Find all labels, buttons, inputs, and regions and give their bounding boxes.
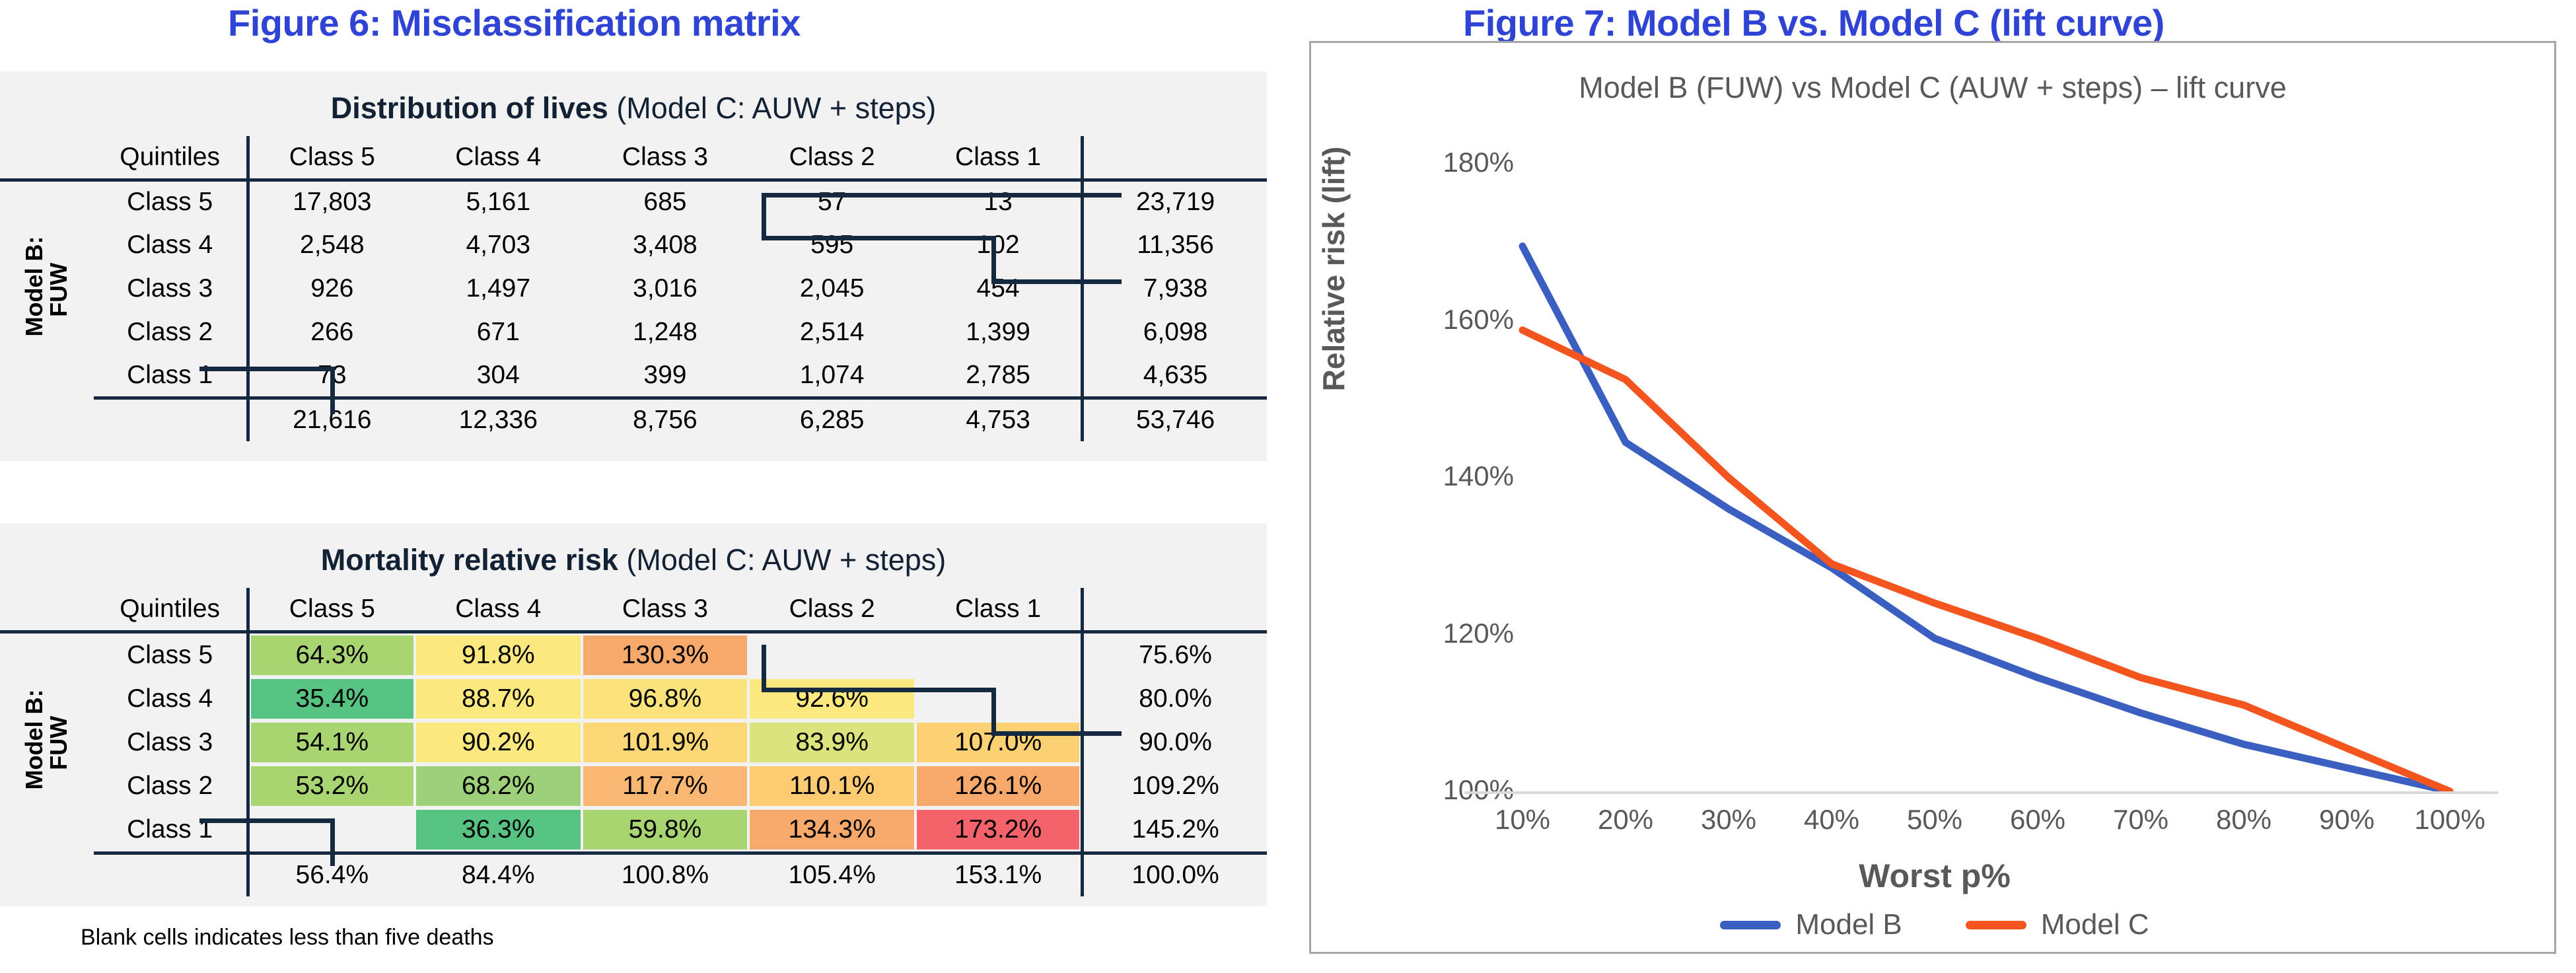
row-total: 80.0% [1083,677,1267,721]
corner-cell [0,136,94,180]
table-b-heading: Mortality relative risk (Model C: AUW + … [0,523,1267,577]
row-label: Class 5 [94,180,248,223]
matrix-cell: 2,514 [748,310,915,354]
heat-swatch [917,679,1079,719]
x-tick-label: 70% [2081,804,2200,836]
matrix-cell: 1,074 [748,354,915,398]
column-header: Quintiles [94,136,248,180]
heat-swatch: 117.7% [583,766,748,806]
distribution-of-lives-block: Distribution of lives (Model C: AUW + st… [0,71,1267,461]
column-total: 8,756 [582,398,749,441]
distribution-of-lives-table: QuintilesClass 5Class 4Class 3Class 2Cla… [0,136,1267,441]
legend-label: Model B [1795,908,1902,941]
grand-total: 53,746 [1083,398,1267,441]
stair-seg [991,279,1122,284]
column-header: Class 4 [415,588,582,631]
column-header: Class 5 [248,136,415,180]
x-tick-label: 10% [1463,804,1582,836]
table-row: Class 1733043991,0742,7854,635 [0,354,1267,398]
column-header [1083,136,1267,180]
matrix-cell: 173.2% [915,808,1083,853]
matrix-cell: 117.7% [582,764,749,808]
totals-corner [0,398,94,441]
heat-swatch: 54.1% [251,723,413,762]
column-header: Class 2 [748,136,915,180]
heat-swatch: 96.8% [583,679,748,719]
matrix-cell: 17,803 [248,180,415,223]
heat-swatch: 90.2% [416,723,581,762]
stair-seg [762,688,996,692]
stair-seg [762,193,1122,198]
matrix-cell: 54.1% [248,721,415,764]
stair-seg [199,818,335,823]
stair-seg [991,731,1122,736]
matrix-cell: 130.3% [582,631,749,677]
table-row: Model B:FUWClass 564.3%91.8%130.3%75.6% [0,631,1267,677]
matrix-cell: 102 [915,223,1083,267]
lift-curve-chart: Model B (FUW) vs Model C (AUW + steps) –… [1309,41,2556,954]
matrix-cell: 53.2% [248,764,415,808]
row-total: 145.2% [1083,808,1267,853]
table-totals-row: 21,61612,3368,7566,2854,75353,746 [0,398,1267,441]
matrix-cell: 68.2% [415,764,582,808]
heat-swatch: 64.3% [251,635,413,675]
column-header: Class 4 [415,136,582,180]
heat-swatch [750,635,914,675]
matrix-cell: 399 [582,354,749,398]
row-label: Class 1 [94,354,248,398]
matrix-cell: 5,161 [415,180,582,223]
matrix-cell: 134.3% [748,808,915,853]
row-total: 6,098 [1083,310,1267,354]
heat-swatch: 92.6% [750,679,914,719]
x-tick-label: 30% [1669,804,1788,836]
matrix-cell: 304 [415,354,582,398]
column-header: Class 1 [915,136,1083,180]
legend-color-swatch [1720,921,1781,929]
row-total: 90.0% [1083,721,1267,764]
blank-cells-footnote: Blank cells indicates less than five dea… [81,925,494,951]
x-tick-label: 40% [1772,804,1891,836]
matrix-cell: 126.1% [915,764,1083,808]
matrix-cell: 110.1% [748,764,915,808]
table-b-heading-rest: (Model C: AUW + steps) [618,543,946,577]
table-row: Class 354.1%90.2%101.9%83.9%107.0%90.0% [0,721,1267,764]
totals-label [94,853,248,896]
matrix-cell: 101.9% [582,721,749,764]
table-b-heading-bold: Mortality relative risk [321,543,618,577]
column-header: Class 2 [748,588,915,631]
x-tick-label: 50% [1875,804,1994,836]
row-label: Class 2 [94,310,248,354]
matrix-cell: 35.4% [248,677,415,721]
baseline-gridline [1464,791,2498,794]
corner-cell [0,588,94,631]
column-header: Quintiles [94,588,248,631]
column-header: Class 5 [248,588,415,631]
x-tick-label: 60% [1978,804,2097,836]
figure7-title: Figure 7: Model B vs. Model C (lift curv… [1463,1,2165,44]
column-header: Class 1 [915,588,1083,631]
x-tick-label: 20% [1566,804,1685,836]
row-axis-label: Model B:FUW [0,631,94,853]
heat-swatch: 36.3% [416,810,581,849]
x-tick-label: 100% [2390,804,2509,836]
column-header [1083,588,1267,631]
matrix-cell: 107.0% [915,721,1083,764]
stair-seg [762,193,766,240]
matrix-cell: 1,399 [915,310,1083,354]
heat-swatch [917,635,1079,675]
column-total: 84.4% [415,853,582,896]
heat-swatch: 53.2% [251,766,413,806]
plot-area [1464,164,2495,791]
column-total: 4,753 [915,398,1083,441]
mortality-relative-risk-table: QuintilesClass 5Class 4Class 3Class 2Cla… [0,588,1267,896]
row-total: 109.2% [1083,764,1267,808]
row-axis-label: Model B:FUW [0,180,94,398]
x-tick-label: 80% [2184,804,2303,836]
matrix-cell: 59.8% [582,808,749,853]
figure6-title: Figure 6: Misclassification matrix [228,1,801,44]
column-total: 6,285 [748,398,915,441]
matrix-cell: 91.8% [415,631,582,677]
matrix-cell: 671 [415,310,582,354]
heat-swatch: 88.7% [416,679,581,719]
column-header: Class 3 [582,136,749,180]
matrix-cell: 64.3% [248,631,415,677]
table-a-heading-rest: (Model C: AUW + steps) [608,91,936,125]
figure-page: Figure 6: Misclassification matrix Distr… [0,0,2576,973]
stair-seg [330,818,335,866]
row-total: 4,635 [1083,354,1267,398]
matrix-cell: 266 [248,310,415,354]
heat-swatch: 126.1% [917,766,1079,806]
stair-seg [991,236,996,284]
column-total: 12,336 [415,398,582,441]
stair-seg [762,236,996,240]
legend-item[interactable]: Model C [1966,908,2149,941]
matrix-cell: 1,248 [582,310,749,354]
table-row: Class 22666711,2482,5141,3996,098 [0,310,1267,354]
left-panel: Figure 6: Misclassification matrix Distr… [0,0,1288,973]
series-line-model-c [1522,330,2450,791]
totals-label [94,398,248,441]
heat-swatch: 101.9% [583,723,748,762]
column-header: Class 3 [582,588,749,631]
row-axis-label-text: Model B:FUW [22,243,71,337]
table-header-row: QuintilesClass 5Class 4Class 3Class 2Cla… [0,136,1267,180]
row-total: 11,356 [1083,223,1267,267]
chart-title: Model B (FUW) vs Model C (AUW + steps) –… [1311,71,2554,105]
grand-total: 100.0% [1083,853,1267,896]
matrix-cell: 3,016 [582,267,749,310]
stair-seg [991,688,996,736]
x-tick-label: 90% [2287,804,2406,836]
matrix-cell: 90.2% [415,721,582,764]
table-a-heading-bold: Distribution of lives [331,91,608,125]
matrix-cell: 595 [748,223,915,267]
heat-swatch: 35.4% [251,679,413,719]
row-label: Class 2 [94,764,248,808]
heat-swatch: 83.9% [750,723,914,762]
table-a-heading: Distribution of lives (Model C: AUW + st… [0,71,1267,126]
matrix-cell: 2,785 [915,354,1083,398]
stair-seg [330,367,335,414]
matrix-cell: 96.8% [582,677,749,721]
row-label: Class 3 [94,721,248,764]
heat-swatch: 173.2% [917,810,1079,849]
matrix-cell: 2,548 [248,223,415,267]
table-totals-row: 56.4%84.4%100.8%105.4%153.1%100.0% [0,853,1267,896]
legend-item[interactable]: Model B [1720,908,1902,941]
totals-corner [0,853,94,896]
matrix-cell: 13 [915,180,1083,223]
matrix-cell [915,631,1083,677]
heat-swatch: 68.2% [416,766,581,806]
heat-swatch: 110.1% [750,766,914,806]
matrix-cell [915,677,1083,721]
heat-swatch: 107.0% [917,723,1079,762]
stair-seg [762,645,766,692]
matrix-cell: 2,045 [748,267,915,310]
row-label: Class 4 [94,677,248,721]
x-axis-label: Worst p% [1311,857,2558,895]
table-row: Class 39261,4973,0162,0454547,938 [0,267,1267,310]
matrix-cell: 685 [582,180,749,223]
table-row: Class 253.2%68.2%117.7%110.1%126.1%109.2… [0,764,1267,808]
row-label: Class 4 [94,223,248,267]
matrix-cell: 92.6% [748,677,915,721]
stair-seg [199,367,335,371]
table-row: Class 136.3%59.8%134.3%173.2%145.2% [0,808,1267,853]
matrix-cell: 36.3% [415,808,582,853]
heat-swatch: 91.8% [416,635,581,675]
matrix-cell: 454 [915,267,1083,310]
row-label: Class 1 [94,808,248,853]
matrix-cell: 4,703 [415,223,582,267]
row-label: Class 5 [94,631,248,677]
column-total: 153.1% [915,853,1083,896]
column-total: 100.8% [582,853,749,896]
matrix-cell: 1,497 [415,267,582,310]
matrix-cell: 88.7% [415,677,582,721]
legend-color-swatch [1966,921,2026,929]
row-axis-label-text: Model B:FUW [22,696,71,790]
matrix-cell: 3,408 [582,223,749,267]
table-header-row: QuintilesClass 5Class 4Class 3Class 2Cla… [0,588,1267,631]
series-line-model-b [1522,246,2450,791]
matrix-cell: 926 [248,267,415,310]
matrix-cell: 83.9% [748,721,915,764]
legend-label: Model C [2041,908,2149,941]
table-row: Class 435.4%88.7%96.8%92.6%80.0% [0,677,1267,721]
row-label: Class 3 [94,267,248,310]
table-row: Class 42,5484,7033,40859510211,356 [0,223,1267,267]
matrix-cell [748,631,915,677]
row-total: 7,938 [1083,267,1267,310]
row-total: 23,719 [1083,180,1267,223]
column-total: 105.4% [748,853,915,896]
table-row: Model B:FUWClass 517,8035,161685571323,7… [0,180,1267,223]
row-total: 75.6% [1083,631,1267,677]
heat-swatch: 130.3% [583,635,748,675]
matrix-cell: 57 [748,180,915,223]
chart-legend: Model BModel C [1311,908,2558,941]
y-axis-label: Relative risk (lift) [1316,97,1351,441]
heat-swatch: 59.8% [583,810,748,849]
heat-swatch: 134.3% [750,810,914,849]
mortality-relative-risk-block: Mortality relative risk (Model C: AUW + … [0,523,1267,906]
